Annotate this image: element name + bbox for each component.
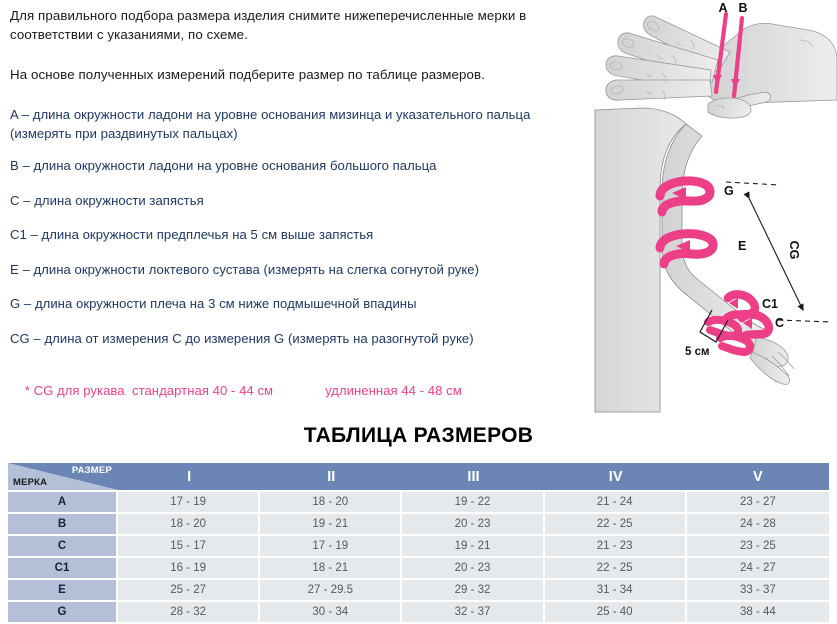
cell-value: 22 - 25 (545, 514, 687, 534)
cell-value: 28 - 32 (118, 602, 260, 622)
table-row: G 28 - 32 30 - 34 32 - 37 25 - 40 38 - 4… (8, 602, 829, 622)
label-c1: C1 (762, 297, 778, 311)
cell-value: 18 - 20 (260, 492, 402, 512)
column-header-v: V (687, 463, 829, 490)
size-table-header: РАЗМЕР МЕРКА I II III IV V (8, 463, 829, 490)
cell-value: 17 - 19 (260, 536, 402, 556)
corner-measure-label: МЕРКА (13, 477, 47, 488)
cell-value: 31 - 34 (545, 580, 687, 600)
measurement-definition-c1: C1 – длина окружности предплечья на 5 см… (10, 226, 585, 245)
cell-value: 18 - 21 (260, 558, 402, 578)
cell-value: 18 - 20 (118, 514, 260, 534)
size-table: РАЗМЕР МЕРКА I II III IV V A 17 - 19 18 … (8, 461, 829, 624)
cell-value: 22 - 25 (545, 558, 687, 578)
cell-value: 17 - 19 (118, 492, 260, 512)
cell-value: 19 - 22 (402, 492, 544, 512)
arm-diagram: 5 см CG G E C1 C (595, 98, 832, 412)
row-measure-label: E (8, 580, 118, 600)
cell-value: 20 - 23 (402, 514, 544, 534)
cell-value: 32 - 37 (402, 602, 544, 622)
column-header-iii: III (402, 463, 544, 490)
cell-value: 20 - 23 (402, 558, 544, 578)
cell-value: 16 - 19 (118, 558, 260, 578)
label-cg: CG (787, 241, 801, 260)
measurement-definition-b: B – длина окружности ладони на уровне ос… (10, 157, 585, 176)
intro-paragraph-1: Для правильного подбора размера изделия … (10, 6, 585, 44)
hand-diagram: A B (606, 1, 837, 109)
cell-value: 27 - 29.5 (260, 580, 402, 600)
cell-value: 23 - 27 (687, 492, 829, 512)
table-row: C1 16 - 19 18 - 21 20 - 23 22 - 25 24 - … (8, 558, 829, 578)
row-measure-label: C1 (8, 558, 118, 578)
size-table-container: РАЗМЕР МЕРКА I II III IV V A 17 - 19 18 … (8, 461, 829, 624)
cell-value: 21 - 23 (545, 536, 687, 556)
cell-value: 24 - 28 (687, 514, 829, 534)
sleeve-note-extended: удлиненная 44 - 48 см (325, 383, 462, 398)
measurement-definition-a: A – длина окружности ладони на уровне ос… (10, 106, 585, 143)
measurement-definitions-list: A – длина окружности ладони на уровне ос… (10, 106, 585, 348)
table-row: E 25 - 27 27 - 29.5 29 - 32 31 - 34 33 -… (8, 580, 829, 600)
measurement-definition-cg: CG – длина от измерения C до измерения G… (10, 330, 585, 349)
label-e: E (738, 239, 746, 253)
table-row: B 18 - 20 19 - 21 20 - 23 22 - 25 24 - 2… (8, 514, 829, 534)
column-header-i: I (118, 463, 260, 490)
measurement-definition-g: G – длина окружности плеча на 3 см ниже … (10, 295, 585, 314)
label-5cm: 5 см (685, 346, 710, 358)
corner-size-label: РАЗМЕР (72, 465, 112, 476)
row-measure-label: B (8, 514, 118, 534)
header-row: РАЗМЕР МЕРКА I II III IV V (8, 463, 829, 490)
row-measure-label: G (8, 602, 118, 622)
sleeve-note-standard: * CG для рукава стандартная 40 - 44 см (25, 383, 273, 398)
cell-value: 25 - 40 (545, 602, 687, 622)
table-row: A 17 - 19 18 - 20 19 - 22 21 - 24 23 - 2… (8, 492, 829, 512)
measurement-definition-e: E – длина окружности локтевого сустава (… (10, 261, 585, 280)
size-table-title: ТАБЛИЦА РАЗМЕРОВ (0, 424, 837, 448)
cell-value: 23 - 25 (687, 536, 829, 556)
size-table-body: A 17 - 19 18 - 20 19 - 22 21 - 24 23 - 2… (8, 492, 829, 622)
cell-value: 19 - 21 (402, 536, 544, 556)
cell-value: 15 - 17 (118, 536, 260, 556)
row-measure-label: C (8, 536, 118, 556)
cell-value: 30 - 34 (260, 602, 402, 622)
instructions-panel: Для правильного подбора размера изделия … (10, 6, 585, 413)
cell-value: 38 - 44 (687, 602, 829, 622)
corner-cell: РАЗМЕР МЕРКА (8, 463, 118, 490)
cell-value: 29 - 32 (402, 580, 544, 600)
cell-value: 19 - 21 (260, 514, 402, 534)
label-g: G (724, 184, 734, 198)
label-c: C (775, 316, 784, 330)
cell-value: 24 - 27 (687, 558, 829, 578)
measurement-diagrams: A B (590, 0, 837, 420)
cell-value: 25 - 27 (118, 580, 260, 600)
label-b: B (738, 1, 747, 15)
label-a: A (718, 1, 727, 15)
table-row: C 15 - 17 17 - 19 19 - 21 21 - 23 23 - 2… (8, 536, 829, 556)
intro-paragraph-2: На основе полученных измерений подберите… (10, 65, 585, 84)
row-measure-label: A (8, 492, 118, 512)
column-header-iv: IV (545, 463, 687, 490)
cell-value: 21 - 24 (545, 492, 687, 512)
cell-value: 33 - 37 (687, 580, 829, 600)
measurement-definition-c: C – длина окружности запястья (10, 192, 585, 211)
column-header-ii: II (260, 463, 402, 490)
sleeve-length-note: * CG для рукава стандартная 40 - 44 смуд… (10, 368, 585, 413)
